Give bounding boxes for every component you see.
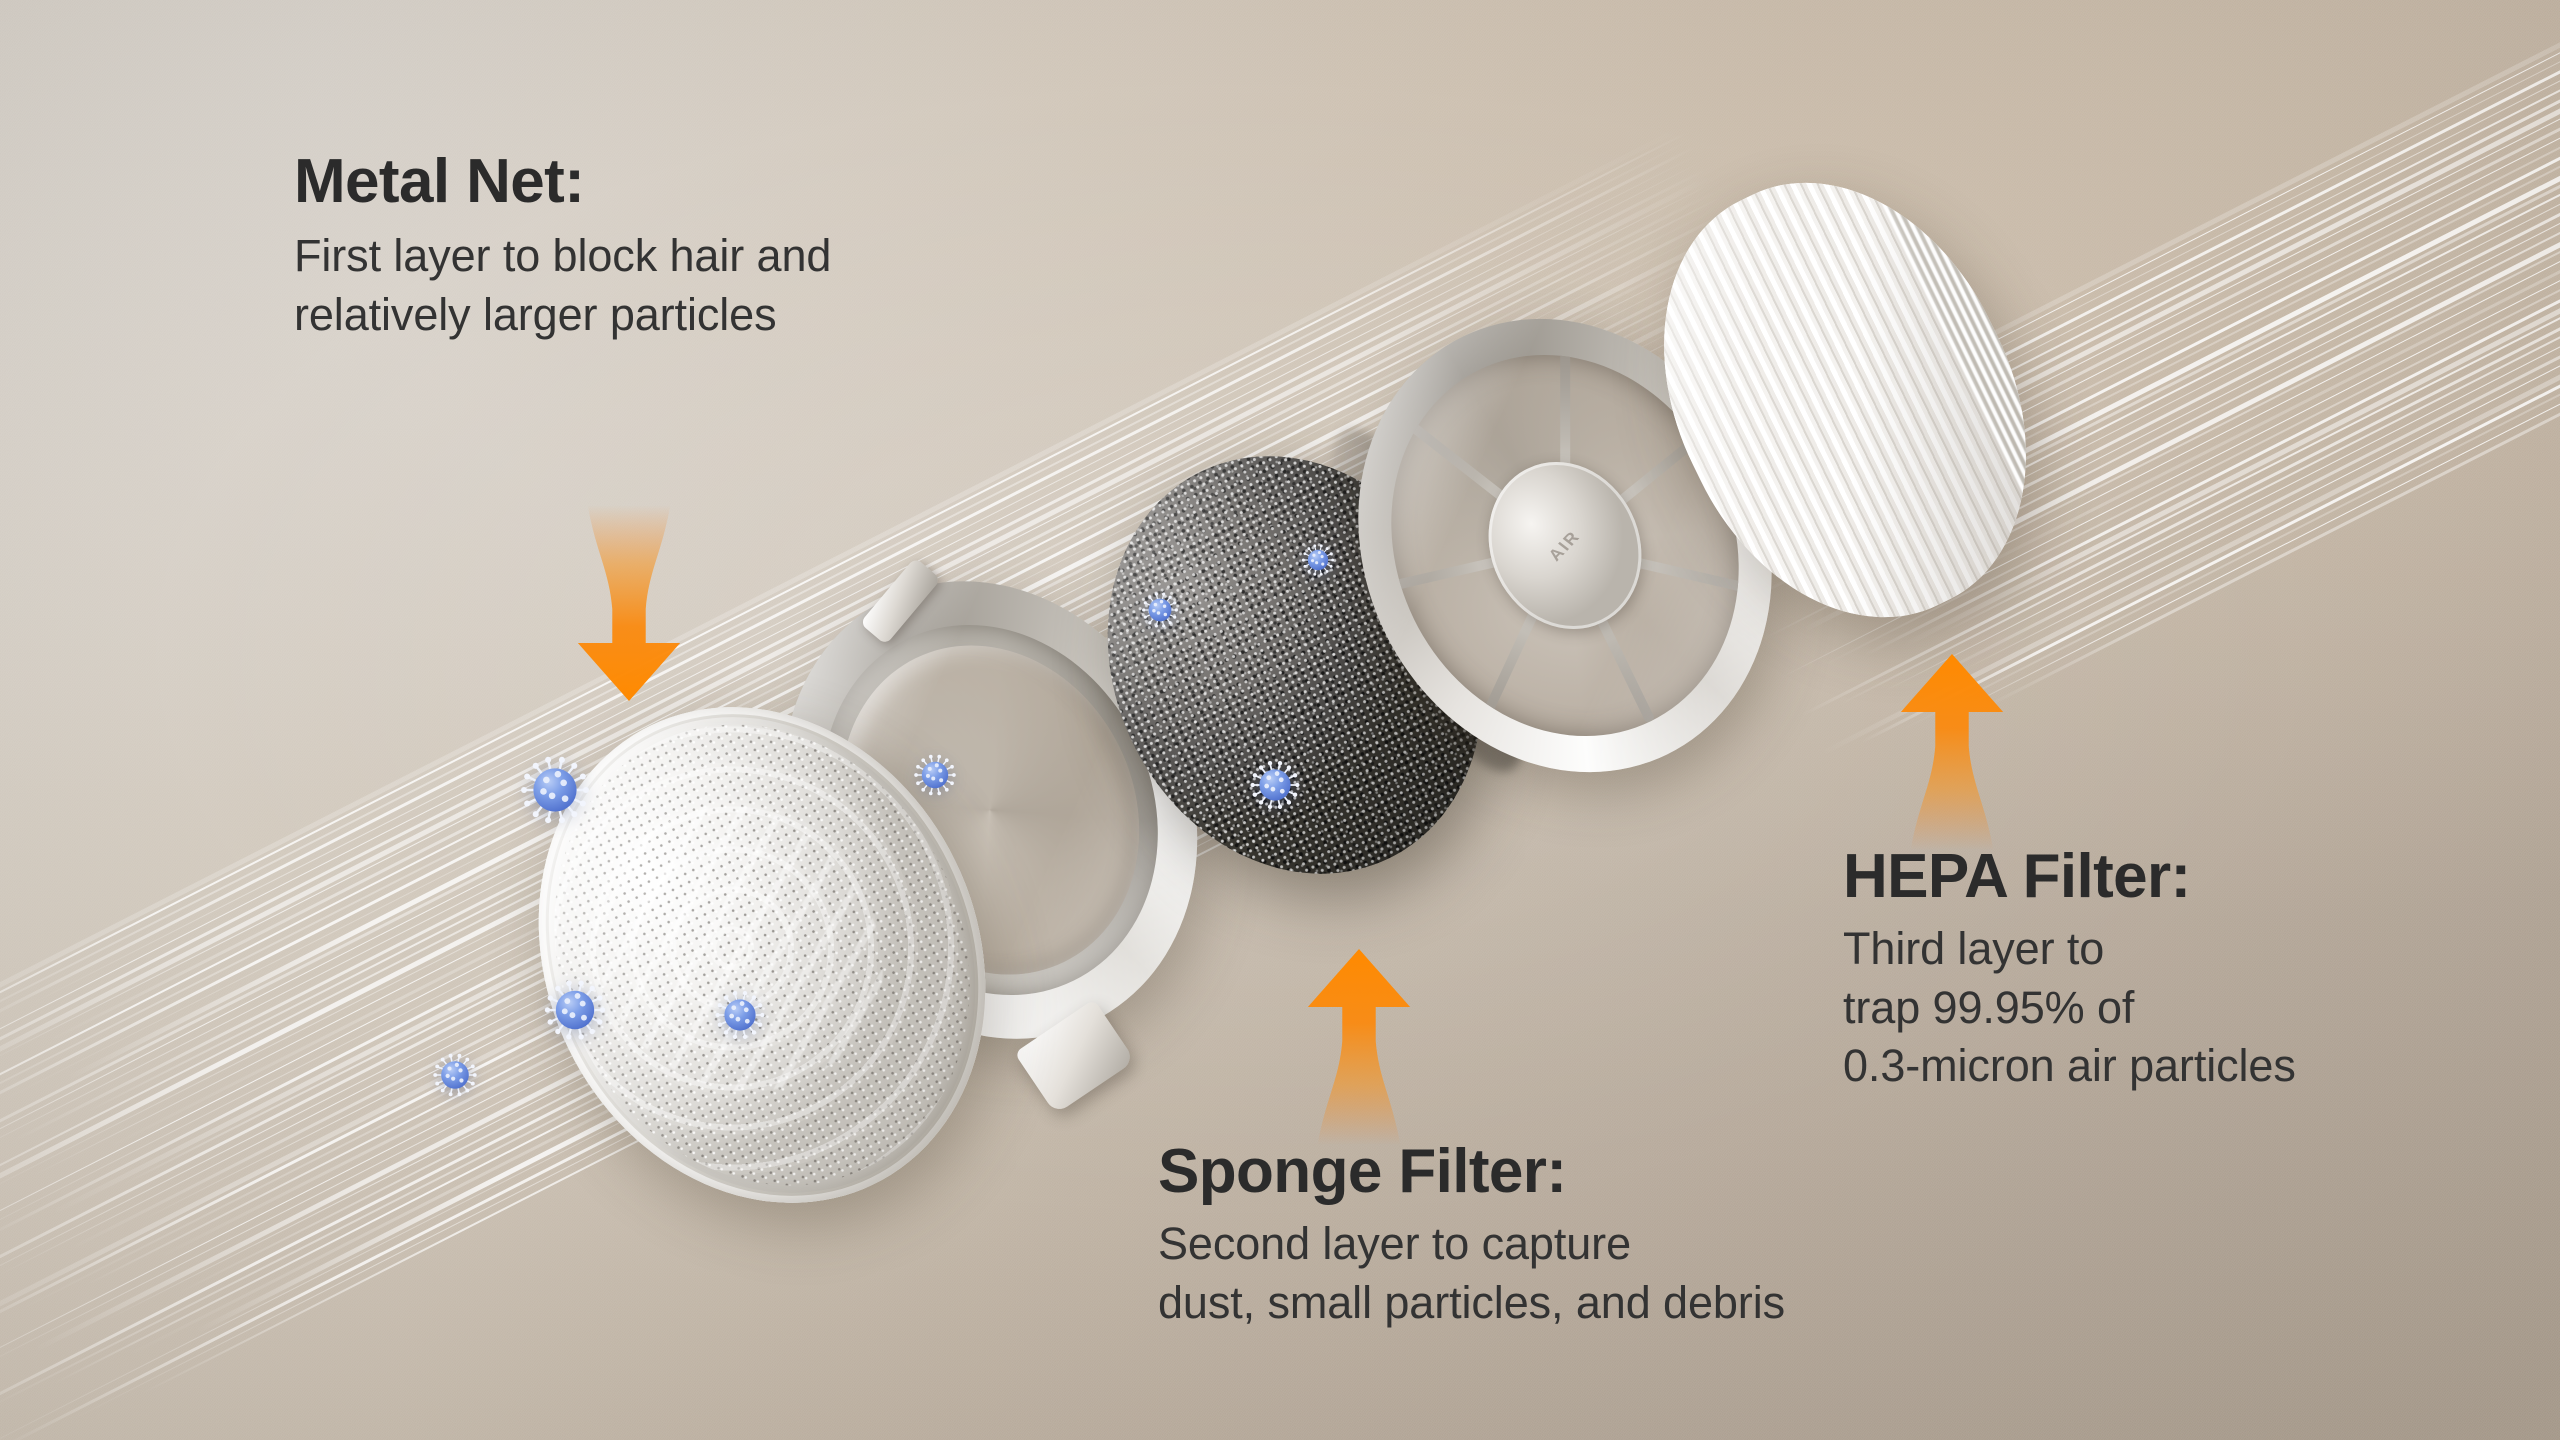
arrow-up-sponge-icon [1300,945,1418,1145]
callout-hepa-filter-body: Third layer to trap 99.95% of 0.3-micron… [1843,920,2543,1096]
virus-particle-icon [714,989,766,1041]
virus-particle-icon [1249,759,1301,811]
callout-hepa-filter: HEPA Filter: Third layer to trap 99.95% … [1843,845,2543,1096]
callout-metal-net-title: Metal Net: [294,150,994,213]
callout-sponge-filter-body: Second layer to capture dust, small part… [1158,1215,1898,1332]
arrow-down-metal-net-icon [570,505,688,705]
callout-sponge-filter: Sponge Filter: Second layer to capture d… [1158,1140,1898,1332]
callout-metal-net: Metal Net: First layer to block hair and… [294,150,994,344]
arrow-up-hepa-icon [1893,650,2011,850]
callout-sponge-filter-title: Sponge Filter: [1158,1140,1898,1203]
virus-particle-icon [1301,543,1335,577]
virus-particle-icon [543,978,607,1042]
virus-particle-icon [913,753,957,797]
virus-particle-icon [519,754,591,826]
callout-metal-net-body: First layer to block hair and relatively… [294,227,994,344]
callout-hepa-filter-title: HEPA Filter: [1843,845,2543,908]
virus-particle-icon [1141,591,1179,629]
infographic-canvas: AIR [0,0,2560,1440]
virus-particle-icon [432,1052,478,1098]
